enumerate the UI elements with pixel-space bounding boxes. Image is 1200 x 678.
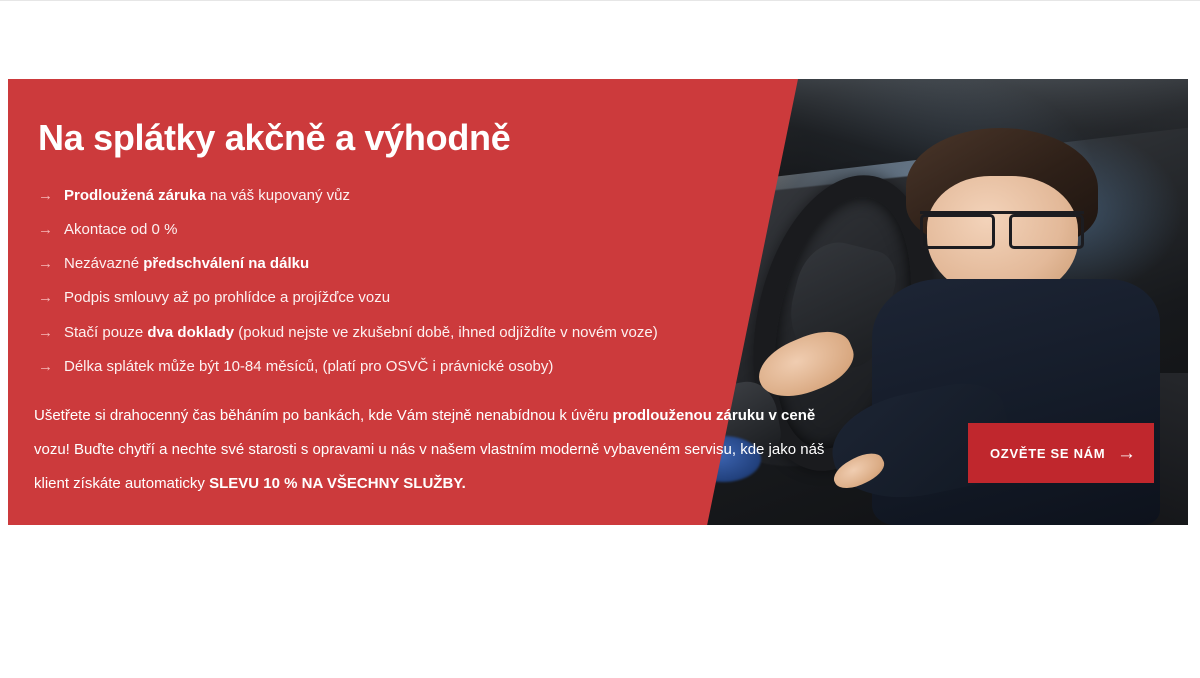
list-item-text: Délka splátek může být 10-84 měsíců, (pl… — [64, 357, 553, 377]
list-item-rest: Stačí pouze — [64, 324, 147, 341]
list-item-rest: Nezávazné — [64, 255, 143, 272]
list-item-bold: dva doklady — [147, 324, 234, 341]
list-item-rest: Podpis smlouvy až po prohlídce a projížď… — [64, 289, 390, 306]
list-item-bold: Prodloužená záruka — [64, 187, 206, 204]
arrow-right-icon: → — [38, 186, 64, 206]
list-item-rest: na váš kupovaný vůz — [206, 187, 350, 204]
list-item-text: Stačí pouze dva doklady (pokud nejste ve… — [64, 323, 658, 343]
promo-banner: Na splátky akčně a výhodně → Prodloužená… — [8, 79, 1188, 525]
list-item: → Prodloužená záruka na váš kupovaný vůz — [38, 186, 888, 206]
arrow-right-icon: → — [38, 220, 64, 240]
banner-content: Na splátky akčně a výhodně → Prodloužená… — [8, 79, 888, 525]
page-root: Na splátky akčně a výhodně → Prodloužená… — [0, 0, 1200, 678]
arrow-right-icon: → — [38, 288, 64, 308]
banner-headline: Na splátky akčně a výhodně — [38, 118, 888, 158]
list-item-rest: Délka splátek může být 10-84 měsíců, (pl… — [64, 358, 553, 375]
arrow-right-icon: → — [38, 254, 64, 274]
list-item-text: Prodloužená záruka na váš kupovaný vůz — [64, 186, 350, 206]
paragraph-bold-1: prodlouženou záruku v ceně — [613, 407, 816, 424]
list-item-text: Nezávazné předschválení na dálku — [64, 254, 309, 274]
paragraph-bold-2: SLEVU 10 % NA VŠECHNY SLUŽBY. — [209, 475, 466, 492]
list-item-tail: (pokud nejste ve zkušební době, ihned od… — [234, 324, 658, 341]
list-item-rest: Akontace od 0 % — [64, 221, 177, 238]
list-item: → Nezávazné předschválení na dálku — [38, 254, 888, 274]
boy-torso-shape — [872, 279, 1159, 525]
cta-button-label: OZVĚTE SE NÁM — [990, 446, 1105, 461]
arrow-right-icon: → — [1117, 444, 1136, 463]
list-item-text: Podpis smlouvy až po prohlídce a projížď… — [64, 288, 390, 308]
list-item: → Stačí pouze dva doklady (pokud nejste … — [38, 323, 888, 343]
list-item: → Podpis smlouvy až po prohlídce a projí… — [38, 288, 888, 308]
arrow-right-icon: → — [38, 323, 64, 343]
eyeglasses-shape — [920, 211, 1084, 243]
paragraph-part-1: Ušetřete si drahocenný čas běháním po ba… — [34, 407, 613, 424]
list-item-text: Akontace od 0 % — [64, 220, 177, 240]
list-item: → Akontace od 0 % — [38, 220, 888, 240]
cta-button[interactable]: OZVĚTE SE NÁM → — [968, 423, 1154, 483]
banner-paragraph: Ušetřete si drahocenný čas běháním po ba… — [34, 399, 834, 500]
list-item: → Délka splátek může být 10-84 měsíců, (… — [38, 357, 888, 377]
list-item-bold: předschválení na dálku — [143, 255, 309, 272]
arrow-right-icon: → — [38, 357, 64, 377]
benefits-list: → Prodloužená záruka na váš kupovaný vůz… — [38, 186, 888, 378]
